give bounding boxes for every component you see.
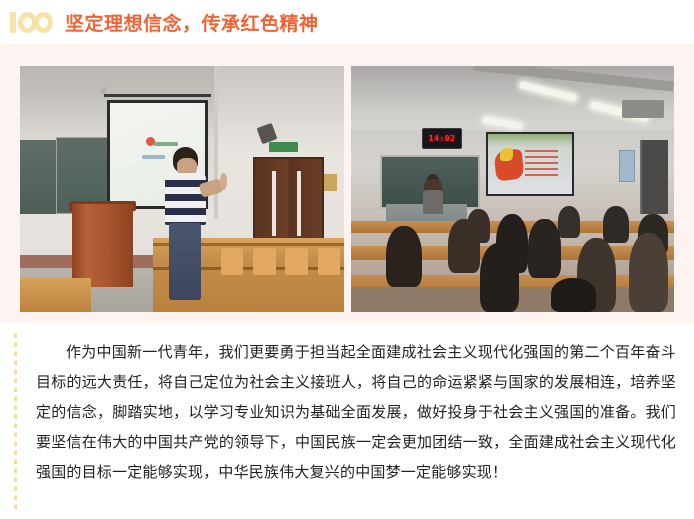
photo1-wall-poster xyxy=(324,174,337,191)
photo1-door xyxy=(253,157,324,248)
photo2-student xyxy=(603,206,629,243)
article-paragraph: 作为中国新一代青年，我们更要勇于担当起全面建成社会主义现代化强国的第二个百年奋斗… xyxy=(36,337,676,487)
photo1-front-desk xyxy=(20,278,91,312)
logo-digit-zero-second xyxy=(34,12,53,33)
photo1-person-striped-shirt xyxy=(165,173,206,225)
photo2-teacher-body xyxy=(423,190,443,214)
photo2-student xyxy=(448,219,480,273)
photo2-student xyxy=(558,206,581,238)
photo2-student xyxy=(480,243,519,312)
left-dashed-accent-rule xyxy=(14,329,17,509)
photo1-exit-sign xyxy=(269,142,298,152)
photo2-clock-time: 14:02 xyxy=(429,134,456,143)
article-body: 作为中国新一代青年，我们更要勇于担当起全面建成社会主义现代化强国的第二个百年奋斗… xyxy=(0,323,694,519)
photo1-speaker-person xyxy=(162,147,211,300)
photo-classroom-male-speaker xyxy=(20,66,344,312)
photo2-door xyxy=(640,140,668,214)
logo-digit-one xyxy=(10,12,16,33)
photo1-chair xyxy=(253,248,276,275)
photo2-student xyxy=(551,278,596,312)
page-title: 坚定理想信念，传承红色精神 xyxy=(65,9,319,36)
photo1-screen-roller xyxy=(104,94,211,97)
photo2-projector xyxy=(622,100,664,117)
photo-classroom-students-audience: 14:02 xyxy=(351,66,675,312)
photo1-chair xyxy=(318,248,341,275)
photo1-pillar xyxy=(214,66,218,219)
page-header: 坚定理想信念，传承红色精神 xyxy=(0,0,694,44)
photo2-student xyxy=(386,226,422,288)
photo2-teacher xyxy=(422,174,445,213)
logo-100-icon xyxy=(10,12,53,33)
photo2-digital-clock: 14:02 xyxy=(422,128,463,150)
photo2-slide-text xyxy=(525,150,558,179)
photo2-china-map-highlight xyxy=(500,148,513,161)
photo1-chair xyxy=(285,248,308,275)
photo-band: 14:02 xyxy=(0,44,694,323)
photo2-slide xyxy=(488,134,571,194)
photo1-person-hand xyxy=(220,173,228,190)
photo1-person-jeans xyxy=(169,223,201,299)
photo2-student xyxy=(528,219,560,278)
photo1-screen-mount xyxy=(101,87,106,94)
photo2-wall-sign xyxy=(619,150,635,182)
photo1-podium xyxy=(72,204,133,288)
photo1-chair xyxy=(221,248,244,275)
photo2-projector-screen xyxy=(486,132,573,196)
photo2-student xyxy=(629,233,668,312)
